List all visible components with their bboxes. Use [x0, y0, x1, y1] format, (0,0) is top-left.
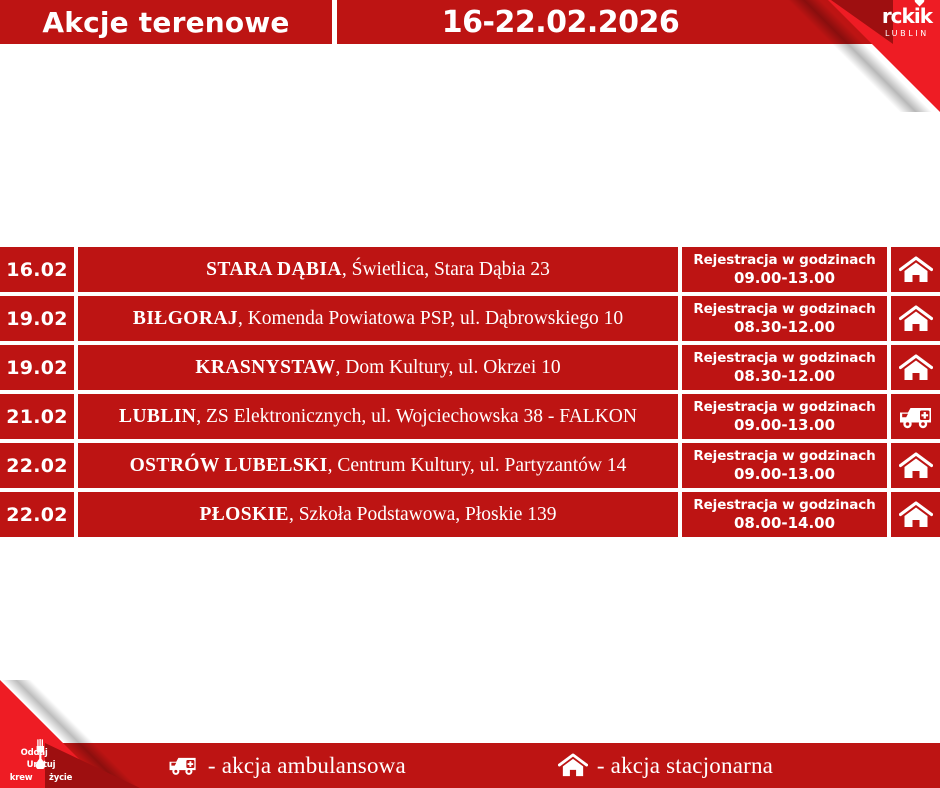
event-address: , Dom Kultury, ul. Okrzei 10: [336, 357, 561, 378]
registration-label: Rejestracja w godzinach: [693, 301, 875, 318]
registration-label: Rejestracja w godzinach: [693, 497, 875, 514]
event-city: BIŁGORAJ: [133, 308, 238, 329]
house-icon: [891, 443, 940, 488]
registration-label: Rejestracja w godzinach: [693, 448, 875, 465]
event-date: 19.02: [0, 296, 74, 341]
house-icon: [891, 247, 940, 292]
ambulance-icon: [167, 754, 199, 777]
event-city: LUBLIN: [119, 406, 196, 427]
registration-hours: 08.30-12.00: [734, 367, 835, 386]
event-location: OSTRÓW LUBELSKI, Centrum Kultury, ul. Pa…: [78, 443, 678, 488]
footer-legend-bar: - akcja ambulansowa - akcja stacjonarna: [0, 743, 940, 788]
legend-label-ambulance: - akcja ambulansowa: [208, 753, 406, 779]
donate-blood-row-2: krew życie: [5, 772, 77, 784]
heart-icon: [914, 0, 925, 7]
event-date: 22.02: [0, 492, 74, 537]
table-row[interactable]: 16.02 STARA DĄBIA, Świetlica, Stara Dąbi…: [0, 247, 940, 292]
event-registration: Rejestracja w godzinach 08.30-12.00: [682, 296, 887, 341]
poster-root: Akcje terenowe 16-22.02.2026 rckik LUBLI…: [0, 0, 940, 788]
donate-blood-word-zycie: życie: [49, 773, 72, 783]
rckik-logo-text: rckik: [882, 4, 932, 28]
event-date: 16.02: [0, 247, 74, 292]
event-address: , Szkoła Podstawowa, Płoskie 139: [289, 504, 557, 525]
event-date: 21.02: [0, 394, 74, 439]
house-icon: [558, 753, 588, 778]
legend-item-ambulance: - akcja ambulansowa: [167, 753, 406, 779]
event-city: KRASNYSTAW: [195, 357, 335, 378]
events-table: 16.02 STARA DĄBIA, Świetlica, Stara Dąbi…: [0, 247, 940, 541]
legend-label-stationary: - akcja stacjonarna: [597, 753, 773, 779]
rckik-logo: rckik LUBLIN: [882, 6, 932, 38]
donate-blood-logo: Oddaj Uratuj krew życie: [5, 747, 77, 784]
table-row[interactable]: 22.02 OSTRÓW LUBELSKI, Centrum Kultury, …: [0, 443, 940, 488]
registration-label: Rejestracja w godzinach: [693, 252, 875, 269]
registration-hours: 08.30-12.00: [734, 318, 835, 337]
event-date: 19.02: [0, 345, 74, 390]
event-location: LUBLIN, ZS Elektronicznych, ul. Wojciech…: [78, 394, 678, 439]
ambulance-icon: [891, 394, 940, 439]
event-address: , ZS Elektronicznych, ul. Wojciechowska …: [196, 406, 637, 427]
donate-blood-logo-text: Oddaj Uratuj krew życie: [5, 747, 77, 784]
donate-blood-word-krew: krew: [10, 773, 33, 783]
event-location: PŁOSKIE, Szkoła Podstawowa, Płoskie 139: [78, 492, 678, 537]
event-location: KRASNYSTAW, Dom Kultury, ul. Okrzei 10: [78, 345, 678, 390]
event-city: PŁOSKIE: [199, 504, 289, 525]
header-date-bar: 16-22.02.2026: [337, 0, 940, 44]
registration-hours: 09.00-13.00: [734, 465, 835, 484]
event-registration: Rejestracja w godzinach 09.00-13.00: [682, 443, 887, 488]
registration-hours: 09.00-13.00: [734, 269, 835, 288]
rckik-logo-wordmark: rckik: [882, 6, 932, 26]
event-registration: Rejestracja w godzinach 09.00-13.00: [682, 247, 887, 292]
table-row[interactable]: 19.02 BIŁGORAJ, Komenda Powiatowa PSP, u…: [0, 296, 940, 341]
event-city: STARA DĄBIA: [206, 259, 342, 280]
legend-item-stationary: - akcja stacjonarna: [558, 753, 773, 779]
table-row[interactable]: 22.02 PŁOSKIE, Szkoła Podstawowa, Płoski…: [0, 492, 940, 537]
house-icon: [891, 296, 940, 341]
rckik-logo-city: LUBLIN: [882, 30, 932, 38]
event-address: , Komenda Powiatowa PSP, ul. Dąbrowskieg…: [238, 308, 623, 329]
event-city: OSTRÓW LUBELSKI: [130, 455, 328, 476]
house-icon: [891, 345, 940, 390]
event-location: BIŁGORAJ, Komenda Powiatowa PSP, ul. Dąb…: [78, 296, 678, 341]
table-row[interactable]: 21.02 LUBLIN, ZS Elektronicznych, ul. Wo…: [0, 394, 940, 439]
event-address: , Świetlica, Stara Dąbia 23: [342, 259, 550, 280]
event-date: 22.02: [0, 443, 74, 488]
event-address: , Centrum Kultury, ul. Partyzantów 14: [328, 455, 627, 476]
event-registration: Rejestracja w godzinach 08.30-12.00: [682, 345, 887, 390]
registration-hours: 08.00-14.00: [734, 514, 835, 533]
event-registration: Rejestracja w godzinach 09.00-13.00: [682, 394, 887, 439]
date-range-label: 16-22.02.2026: [442, 5, 679, 40]
registration-label: Rejestracja w godzinach: [693, 350, 875, 367]
event-location: STARA DĄBIA, Świetlica, Stara Dąbia 23: [78, 247, 678, 292]
hand-blood-drop-icon: [31, 739, 51, 769]
event-registration: Rejestracja w godzinach 08.00-14.00: [682, 492, 887, 537]
header-title-bar: Akcje terenowe: [0, 0, 332, 44]
table-row[interactable]: 19.02 KRASNYSTAW, Dom Kultury, ul. Okrze…: [0, 345, 940, 390]
page-title: Akcje terenowe: [42, 6, 289, 39]
registration-label: Rejestracja w godzinach: [693, 399, 875, 416]
house-icon: [891, 492, 940, 537]
registration-hours: 09.00-13.00: [734, 416, 835, 435]
